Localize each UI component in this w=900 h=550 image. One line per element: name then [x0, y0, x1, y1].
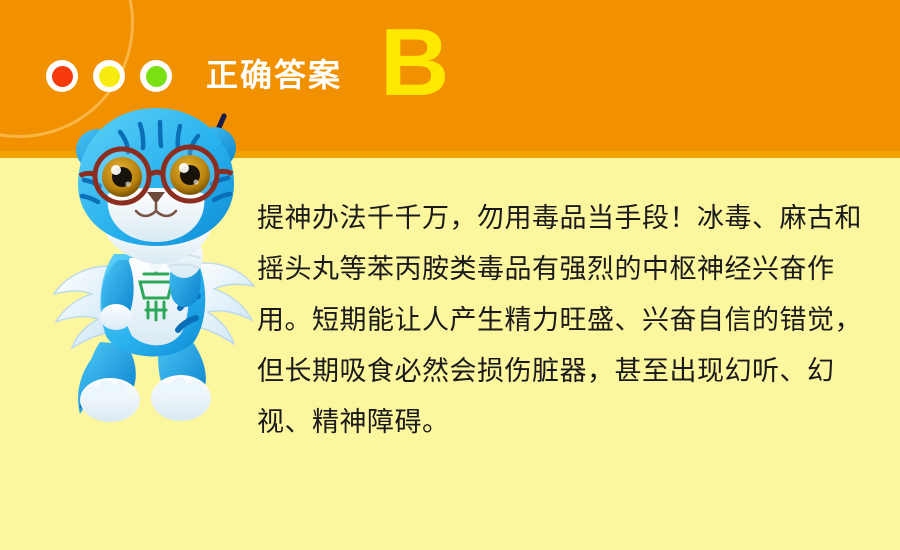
red-dot-icon	[46, 60, 78, 92]
yellow-dot-icon	[93, 60, 125, 92]
hand-left	[100, 304, 132, 330]
blue-tiger-mascot	[48, 98, 263, 428]
header-title: 正确答案	[206, 55, 342, 95]
answer-explanation-text: 提神办法千千万，勿用毒品当手段！冰毒、麻古和摇头丸等苯丙胺类毒品有强烈的中枢神经…	[257, 193, 877, 448]
answer-card: 正确答案 B	[0, 0, 900, 550]
eye-left	[102, 157, 142, 197]
eye-right	[170, 155, 210, 195]
green-dot-icon	[140, 60, 172, 92]
answer-letter: B	[380, 13, 449, 113]
traffic-light-dots	[46, 60, 172, 92]
